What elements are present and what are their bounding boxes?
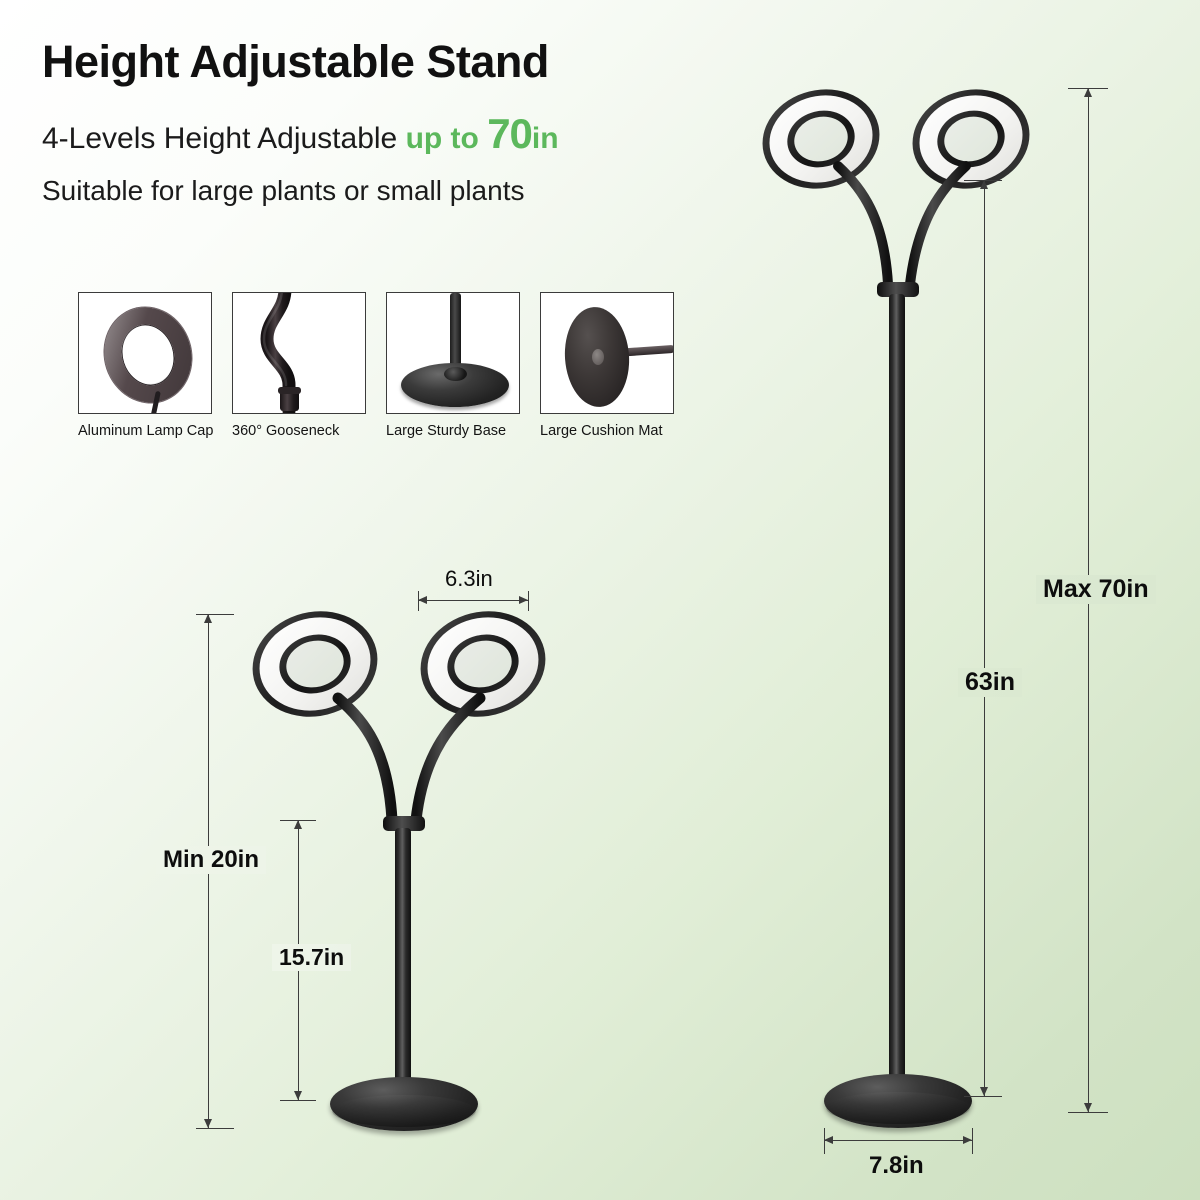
- lamp-base-rim-small: [332, 1095, 476, 1127]
- dimension-label-pole-height: 15.7in: [272, 944, 351, 971]
- dimension-label-min-height: Min 20in: [156, 846, 266, 874]
- infographic-canvas: Height Adjustable Stand 4-Levels Height …: [0, 0, 1200, 1200]
- lamp-pole-tall: [889, 294, 905, 1092]
- dimension-label-head-width: 6.3in: [438, 566, 500, 592]
- lamp-pole-small: [395, 828, 411, 1096]
- dimension-label-max-height: Max 70in: [1036, 575, 1156, 604]
- dimension-label-pole-height-tall: 63in: [958, 668, 1022, 697]
- dimension-label-base-width: 7.8in: [862, 1152, 931, 1180]
- gooseneck-arms-tall: [822, 160, 982, 300]
- lamp-base-rim-tall: [826, 1092, 970, 1124]
